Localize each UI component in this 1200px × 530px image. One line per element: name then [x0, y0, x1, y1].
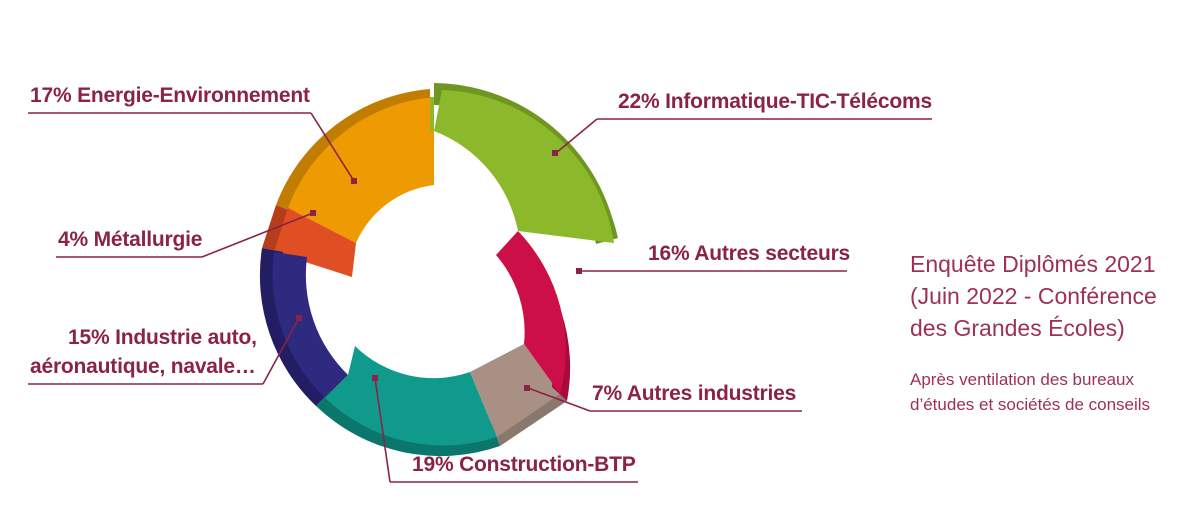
- callout-autres-secteurs[interactable]: 16% Autres secteurs: [576, 242, 850, 274]
- donut-chart: [260, 83, 618, 456]
- callout-autres-secteurs-label: 16% Autres secteurs: [648, 242, 850, 265]
- infographic-root: 17% Energie-Environnement 4% Métallurgie…: [0, 0, 1200, 530]
- callout-informatique-label: 22% Informatique-TIC-Télécoms: [618, 90, 932, 113]
- donut-chart-figure: 17% Energie-Environnement 4% Métallurgie…: [0, 0, 1200, 530]
- callout-metallurgie-dot: [310, 210, 316, 216]
- segment-industrie-auto-face: [273, 252, 348, 398]
- callout-industrie-auto-label-line1: 15% Industrie auto,: [68, 326, 257, 349]
- callout-autres-industries-dot: [524, 385, 530, 391]
- callout-metallurgie-label: 4% Métallurgie: [58, 228, 202, 251]
- callout-energie-label: 17% Energie-Environnement: [30, 84, 310, 107]
- segment-construction-btp[interactable]: [316, 346, 500, 456]
- segment-industrie-auto[interactable]: [260, 248, 348, 406]
- caption-title-line-2: (Juin 2022 - Conférence: [910, 283, 1157, 309]
- callout-industrie-auto-dot: [296, 315, 302, 321]
- callout-autres-industries-label: 7% Autres industries: [592, 382, 796, 405]
- callout-construction-dot: [372, 375, 378, 381]
- callout-industrie-auto-label-line2: aéronautique, navale…: [30, 355, 256, 378]
- segment-informatique-face2: [430, 97, 434, 131]
- segment-informatique-tic-telecoms[interactable]: [430, 83, 618, 244]
- caption-block: Enquête Diplômés 2021 (Juin 2022 - Confé…: [910, 251, 1157, 414]
- caption-title-line-1: Enquête Diplômés 2021: [910, 251, 1156, 277]
- caption-title-line-3: des Grandes Écoles): [910, 315, 1125, 341]
- caption-subtitle-line-1: Après ventilation des bureaux: [910, 370, 1134, 389]
- caption-subtitle-line-2: d’études et sociétés de conseils: [910, 395, 1150, 414]
- callout-energie-dot: [351, 178, 357, 184]
- callout-informatique[interactable]: 22% Informatique-TIC-Télécoms: [552, 90, 932, 156]
- callout-industrie-auto[interactable]: 15% Industrie auto, aéronautique, navale…: [28, 315, 302, 384]
- callout-informatique-dot: [552, 150, 558, 156]
- callout-construction-label: 19% Construction-BTP: [412, 453, 636, 476]
- callout-autres-secteurs-dot: [576, 268, 582, 274]
